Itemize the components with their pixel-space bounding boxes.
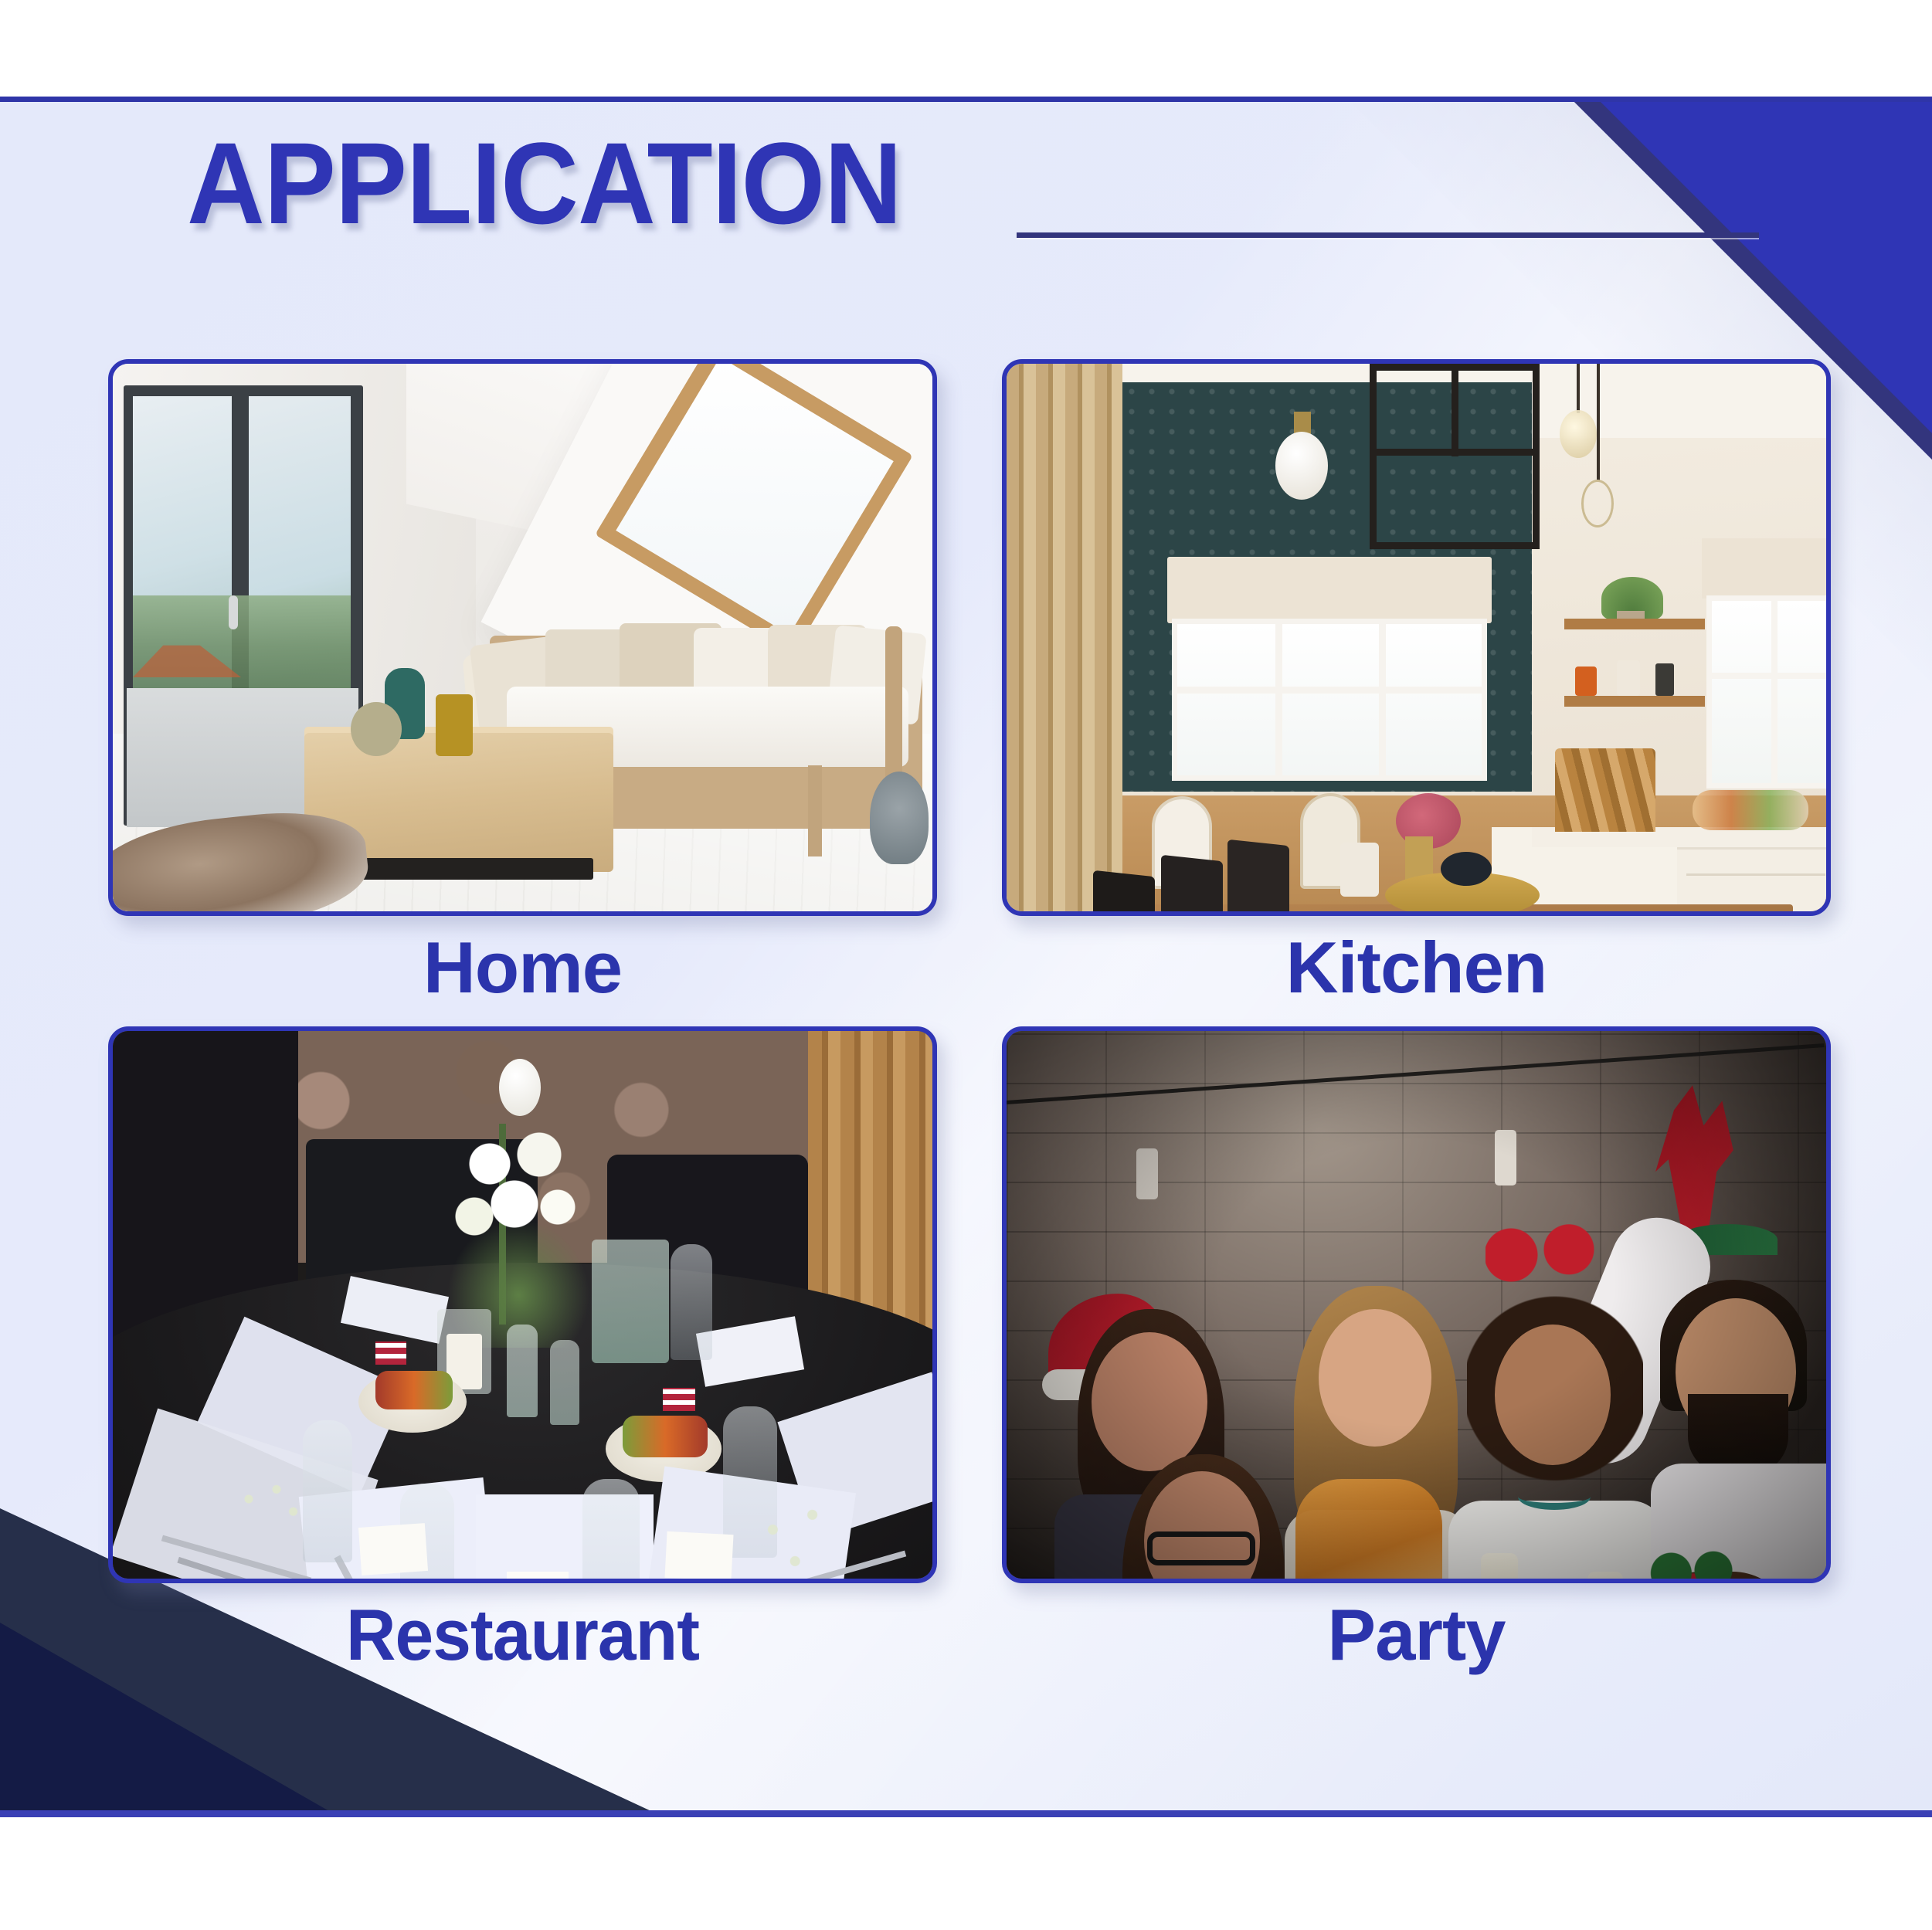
kitchen-scene-illustration xyxy=(1007,364,1826,911)
kitchen-image-card[interactable] xyxy=(1002,359,1831,916)
card-caption-home: Home xyxy=(108,927,937,1008)
coffee-mug xyxy=(1340,843,1379,897)
brass-vase xyxy=(1405,836,1433,880)
party-scene-illustration xyxy=(1007,1031,1826,1579)
doorway-curtain xyxy=(1007,364,1122,911)
kitchen-cabinets xyxy=(1677,847,1826,911)
babys-breath-sprig xyxy=(731,1494,854,1579)
shelf-jar xyxy=(1655,663,1674,696)
lantern-pendant-light xyxy=(1370,364,1540,549)
white-flower-bouquet xyxy=(437,1108,592,1263)
canape-food xyxy=(623,1416,708,1457)
pendant-cord xyxy=(1577,364,1580,413)
dining-chair xyxy=(1227,839,1289,911)
window-shade xyxy=(1167,557,1492,623)
page-title: APPLICATION xyxy=(187,125,901,241)
card-caption-kitchen: Kitchen xyxy=(1002,927,1831,1008)
restaurant-image-card[interactable] xyxy=(108,1026,937,1583)
woven-lantern xyxy=(351,702,402,756)
floor-ornament xyxy=(870,772,929,864)
kitchen-window xyxy=(1706,595,1826,789)
lantern-crossbar xyxy=(1370,449,1540,456)
place-card xyxy=(664,1531,733,1579)
party-image-card[interactable] xyxy=(1002,1026,1831,1583)
application-card-party[interactable]: Party xyxy=(1002,1026,1831,1675)
brass-jar xyxy=(436,694,473,756)
dark-bowl xyxy=(1441,852,1492,886)
card-caption-party: Party xyxy=(1002,1594,1831,1675)
glass-bottle-vase xyxy=(550,1340,579,1425)
canape-food xyxy=(375,1371,453,1409)
title-divider-rule xyxy=(1017,232,1759,238)
application-card-restaurant[interactable]: Restaurant xyxy=(108,1026,937,1675)
dining-chair xyxy=(1093,870,1155,911)
globe-ceiling-light xyxy=(1275,432,1328,500)
window-mullion xyxy=(1275,619,1282,781)
babys-breath-sprig xyxy=(221,1471,314,1541)
door-handle xyxy=(229,595,238,629)
window-mullion xyxy=(1706,673,1826,679)
pendant-bulb xyxy=(1560,410,1597,458)
cabinet-seam xyxy=(1686,873,1825,876)
cutting-boards xyxy=(1555,748,1655,832)
application-card-home[interactable]: Home xyxy=(108,359,937,1008)
floating-shelf xyxy=(1564,619,1705,629)
dining-chair xyxy=(1161,855,1223,911)
toothpick-flag xyxy=(375,1342,406,1365)
floating-shelf xyxy=(1564,696,1705,707)
window-shade xyxy=(1702,538,1826,599)
dining-window xyxy=(1172,619,1487,781)
wine-glass xyxy=(671,1244,712,1360)
window-mullion xyxy=(1379,619,1386,781)
application-card-kitchen[interactable]: Kitchen xyxy=(1002,359,1831,1008)
sofa-leg xyxy=(808,765,822,856)
application-panel: APPLICATION xyxy=(0,97,1932,1817)
scene-vignette xyxy=(1007,1031,1826,1579)
restaurant-scene-illustration xyxy=(113,1031,932,1579)
panel-header: APPLICATION xyxy=(0,102,1932,334)
glass-bottle-vase xyxy=(507,1325,538,1417)
application-cards-grid: Home xyxy=(108,359,1831,1676)
home-scene-illustration xyxy=(113,364,932,911)
pillar-candle xyxy=(499,1059,541,1116)
place-card xyxy=(507,1572,569,1579)
toothpick-flag xyxy=(663,1388,695,1411)
card-caption-restaurant: Restaurant xyxy=(129,1594,916,1675)
window-mullion xyxy=(1771,595,1778,789)
water-pitcher xyxy=(592,1240,669,1363)
home-image-card[interactable] xyxy=(108,359,937,916)
shelf-jar xyxy=(1617,660,1640,696)
pendant-cord xyxy=(1597,364,1600,481)
pendant-bulb xyxy=(1581,480,1614,527)
wine-glass xyxy=(582,1479,640,1579)
shelf-jar xyxy=(1575,667,1597,696)
fruit-arrangement xyxy=(1693,790,1808,830)
place-card xyxy=(358,1523,428,1576)
window-mullion xyxy=(1172,687,1487,694)
